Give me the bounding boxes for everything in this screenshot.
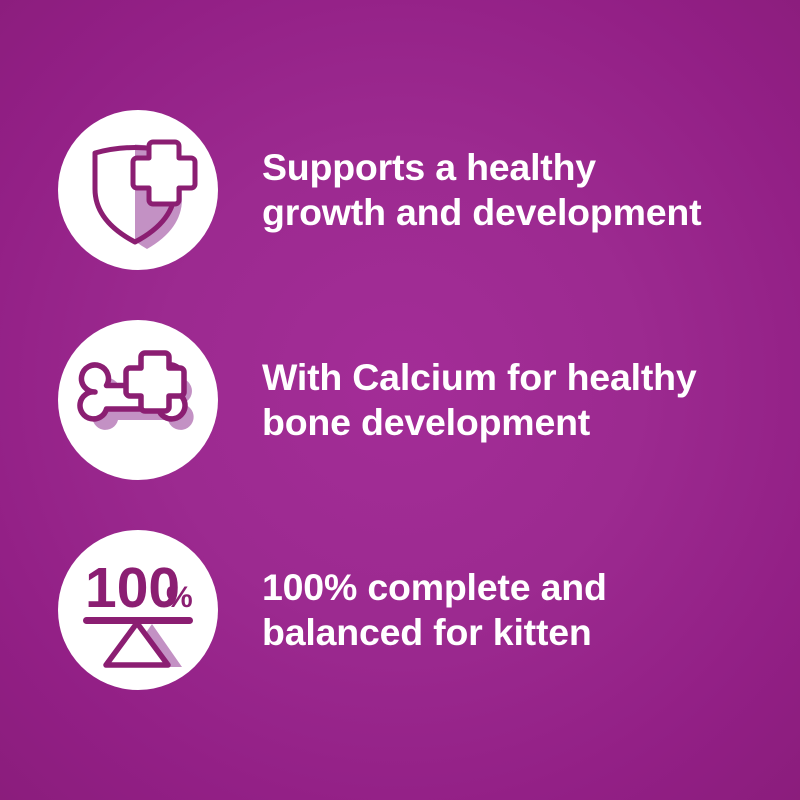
benefit-text-line-1: 100% complete and [262,565,607,610]
shield-plus-icon-badge [58,110,218,270]
balance-scale-100-percent-icon-badge: 100 % [58,530,218,690]
benefit-text: Supports a healthy growth and developmen… [262,145,701,235]
icon-percent-sign: % [166,581,193,614]
benefit-text: With Calcium for healthy bone developmen… [262,355,697,445]
benefit-text-line-1: With Calcium for healthy [262,355,697,400]
benefit-text-line-2: growth and development [262,190,701,235]
benefits-panel: Supports a healthy growth and developmen… [0,0,800,800]
benefit-text-line-2: bone development [262,400,697,445]
benefit-text-line-2: balanced for kitten [262,610,607,655]
benefit-row: Supports a healthy growth and developmen… [58,85,800,295]
benefit-text-line-1: Supports a healthy [262,145,701,190]
bone-plus-icon [73,335,203,465]
benefit-row: With Calcium for healthy bone developmen… [58,295,800,505]
balance-scale-100-percent-icon: 100 % [73,545,203,675]
shield-plus-icon [73,125,203,255]
benefit-row: 100 % 100% complete and balanced for kit… [58,505,800,715]
benefit-text: 100% complete and balanced for kitten [262,565,607,655]
bone-plus-icon-badge [58,320,218,480]
